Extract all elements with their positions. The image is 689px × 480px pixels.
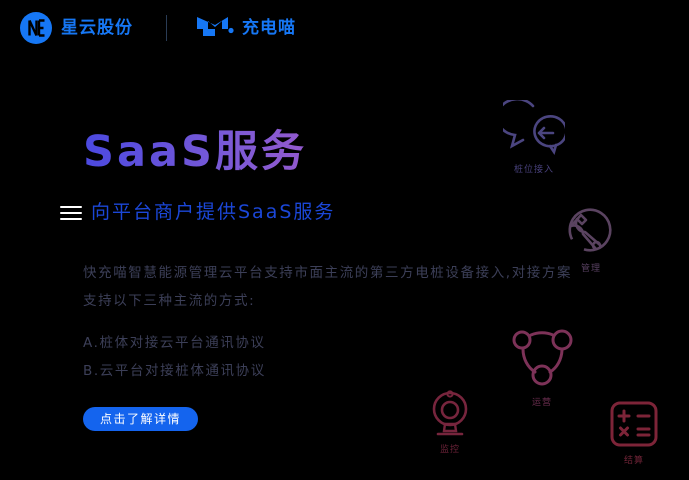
feature-settle[interactable]: 结算 xyxy=(589,399,679,466)
camera-monitor-icon xyxy=(425,390,475,438)
feature-access-label: 桩位接入 xyxy=(514,162,554,175)
feature-settle-label: 结算 xyxy=(624,453,644,466)
brand-chongdianmiao-label: 充电喵 xyxy=(242,20,296,37)
header-brand-bar: 星云股份 充电喵 xyxy=(20,10,296,46)
chat-bubbles-arrow-icon xyxy=(503,100,565,158)
hero-subtitle: 向平台商户提供SaaS服务 xyxy=(91,203,335,222)
page-root: 星云股份 充电喵 SaaS服务 向平台商户提供SaaS服务 快充喵智慧能源管理云… xyxy=(0,0,689,480)
calculator-icon xyxy=(608,399,660,449)
feature-manage[interactable]: 管理 xyxy=(546,207,636,274)
feature-manage-label: 管理 xyxy=(581,261,601,274)
feature-operate-label: 运营 xyxy=(532,395,552,408)
brand-xingyun[interactable]: 星云股份 xyxy=(20,12,133,44)
wrench-gear-icon xyxy=(565,207,617,257)
brand-xingyun-label: 星云股份 xyxy=(61,20,133,37)
ne-circle-logo-icon xyxy=(20,12,52,44)
cat-face-logo-icon xyxy=(195,15,235,41)
learn-more-button[interactable]: 点击了解详情 xyxy=(83,407,198,431)
hero-subtitle-row: 向平台商户提供SaaS服务 xyxy=(60,203,603,222)
feature-access[interactable]: 桩位接入 xyxy=(489,100,579,175)
share-nodes-icon xyxy=(506,323,578,391)
brand-divider xyxy=(166,15,167,41)
brand-chongdianmiao[interactable]: 充电喵 xyxy=(195,15,296,41)
feature-operate[interactable]: 运营 xyxy=(497,323,587,408)
hamburger-icon xyxy=(60,206,82,220)
feature-monitor[interactable]: 监控 xyxy=(405,390,495,455)
feature-monitor-label: 监控 xyxy=(440,442,460,455)
hero-body-text: 快充喵智慧能源管理云平台支持市面主流的第三方电桩设备接入,对接方案支持以下三种主… xyxy=(83,259,578,315)
